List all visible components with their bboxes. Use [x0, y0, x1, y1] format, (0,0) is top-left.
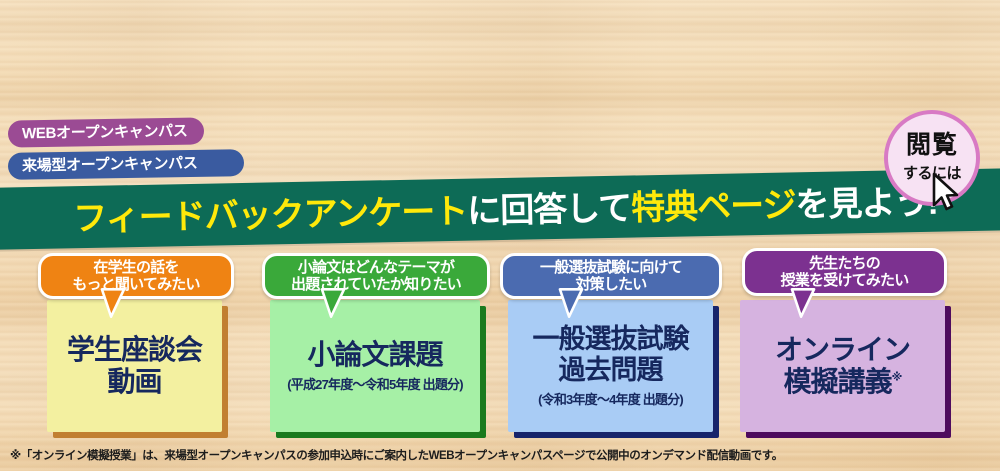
card-title-line2: 動画 — [107, 366, 161, 398]
card-online-mock-lecture[interactable]: オンライン 模擬講義※ — [740, 300, 945, 432]
headline-part-1: フィードバックアンケート — [73, 183, 468, 240]
card-title-line1: オンライン — [775, 334, 910, 366]
card-bubble-line1: 在学生の話を — [72, 259, 199, 276]
tag-web-open-campus[interactable]: WEBオープンキャンパス — [8, 117, 204, 147]
card-title-asterisk: ※ — [892, 372, 902, 384]
card-bubble-line2: 授業を受けてみたい — [781, 272, 909, 289]
card-subtitle: (平成27年度〜令和5年度 出題分) — [287, 374, 463, 393]
headline-part-2: に回答して — [467, 180, 632, 232]
headline-part-3: 特典ページ — [631, 177, 796, 229]
card-bubble-online-mock-lecture: 先生たちの 授業を受けてみたい — [742, 248, 947, 296]
card-bubble-tail — [790, 288, 816, 318]
card-bubble-tail — [320, 288, 346, 318]
card-title-line1: 一般選抜試験 — [533, 324, 689, 355]
card-face: 学生座談会 動画 — [47, 300, 222, 432]
card-essay-assignment[interactable]: 小論文課題 (平成27年度〜令和5年度 出題分) — [270, 300, 480, 432]
view-instruction-title: 閲覧 — [888, 114, 976, 158]
card-bubble-essay-assignment: 小論文はどんなテーマが 出題されていたか知りたい — [262, 253, 490, 299]
card-student-roundtable[interactable]: 学生座談会 動画 — [47, 300, 222, 432]
card-face: 小論文課題 (平成27年度〜令和5年度 出題分) — [270, 300, 480, 432]
card-bubble-tail — [100, 288, 126, 318]
card-title-line1: 学生座談会 — [67, 334, 202, 366]
card-subtitle: (令和3年度〜4年度 出題分) — [538, 389, 683, 408]
card-face: オンライン 模擬講義※ — [740, 300, 945, 432]
tag-web-open-campus-label: WEBオープンキャンパス — [22, 123, 188, 143]
card-title-line2: 過去問題 — [559, 355, 663, 386]
card-title-line1: 小論文課題 — [307, 339, 442, 371]
card-bubble-line1: 先生たちの — [781, 255, 909, 272]
card-past-exam-questions[interactable]: 一般選抜試験 過去問題 (令和3年度〜4年度 出題分) — [508, 300, 713, 432]
tag-onsite-open-campus[interactable]: 来場型オープンキャンパス — [8, 149, 244, 180]
card-bubble-line1: 小論文はどんなテーマが — [291, 259, 461, 276]
card-title-line2: 模擬講義 — [784, 366, 892, 397]
card-bubble-line2: もっと聞いてみたい — [72, 276, 199, 293]
card-bubble-line1: 一般選抜試験に向けて — [540, 259, 682, 276]
card-title-line2-wrap: 模擬講義※ — [784, 366, 902, 398]
card-bubble-tail — [558, 288, 584, 318]
card-bubble-past-exam-questions: 一般選抜試験に向けて 対策したい — [500, 253, 722, 299]
mouse-cursor-arrow-icon — [930, 172, 964, 212]
card-bubble-line2: 出題されていたか知りたい — [291, 276, 461, 293]
tag-onsite-open-campus-label: 来場型オープンキャンパス — [22, 155, 198, 175]
card-face: 一般選抜試験 過去問題 (令和3年度〜4年度 出題分) — [508, 300, 713, 432]
footnote: ※「オンライン模擬授業」は、来場型オープンキャンパスの参加申込時にご案内したWE… — [10, 447, 783, 463]
card-bubble-student-roundtable: 在学生の話を もっと聞いてみたい — [38, 253, 234, 299]
